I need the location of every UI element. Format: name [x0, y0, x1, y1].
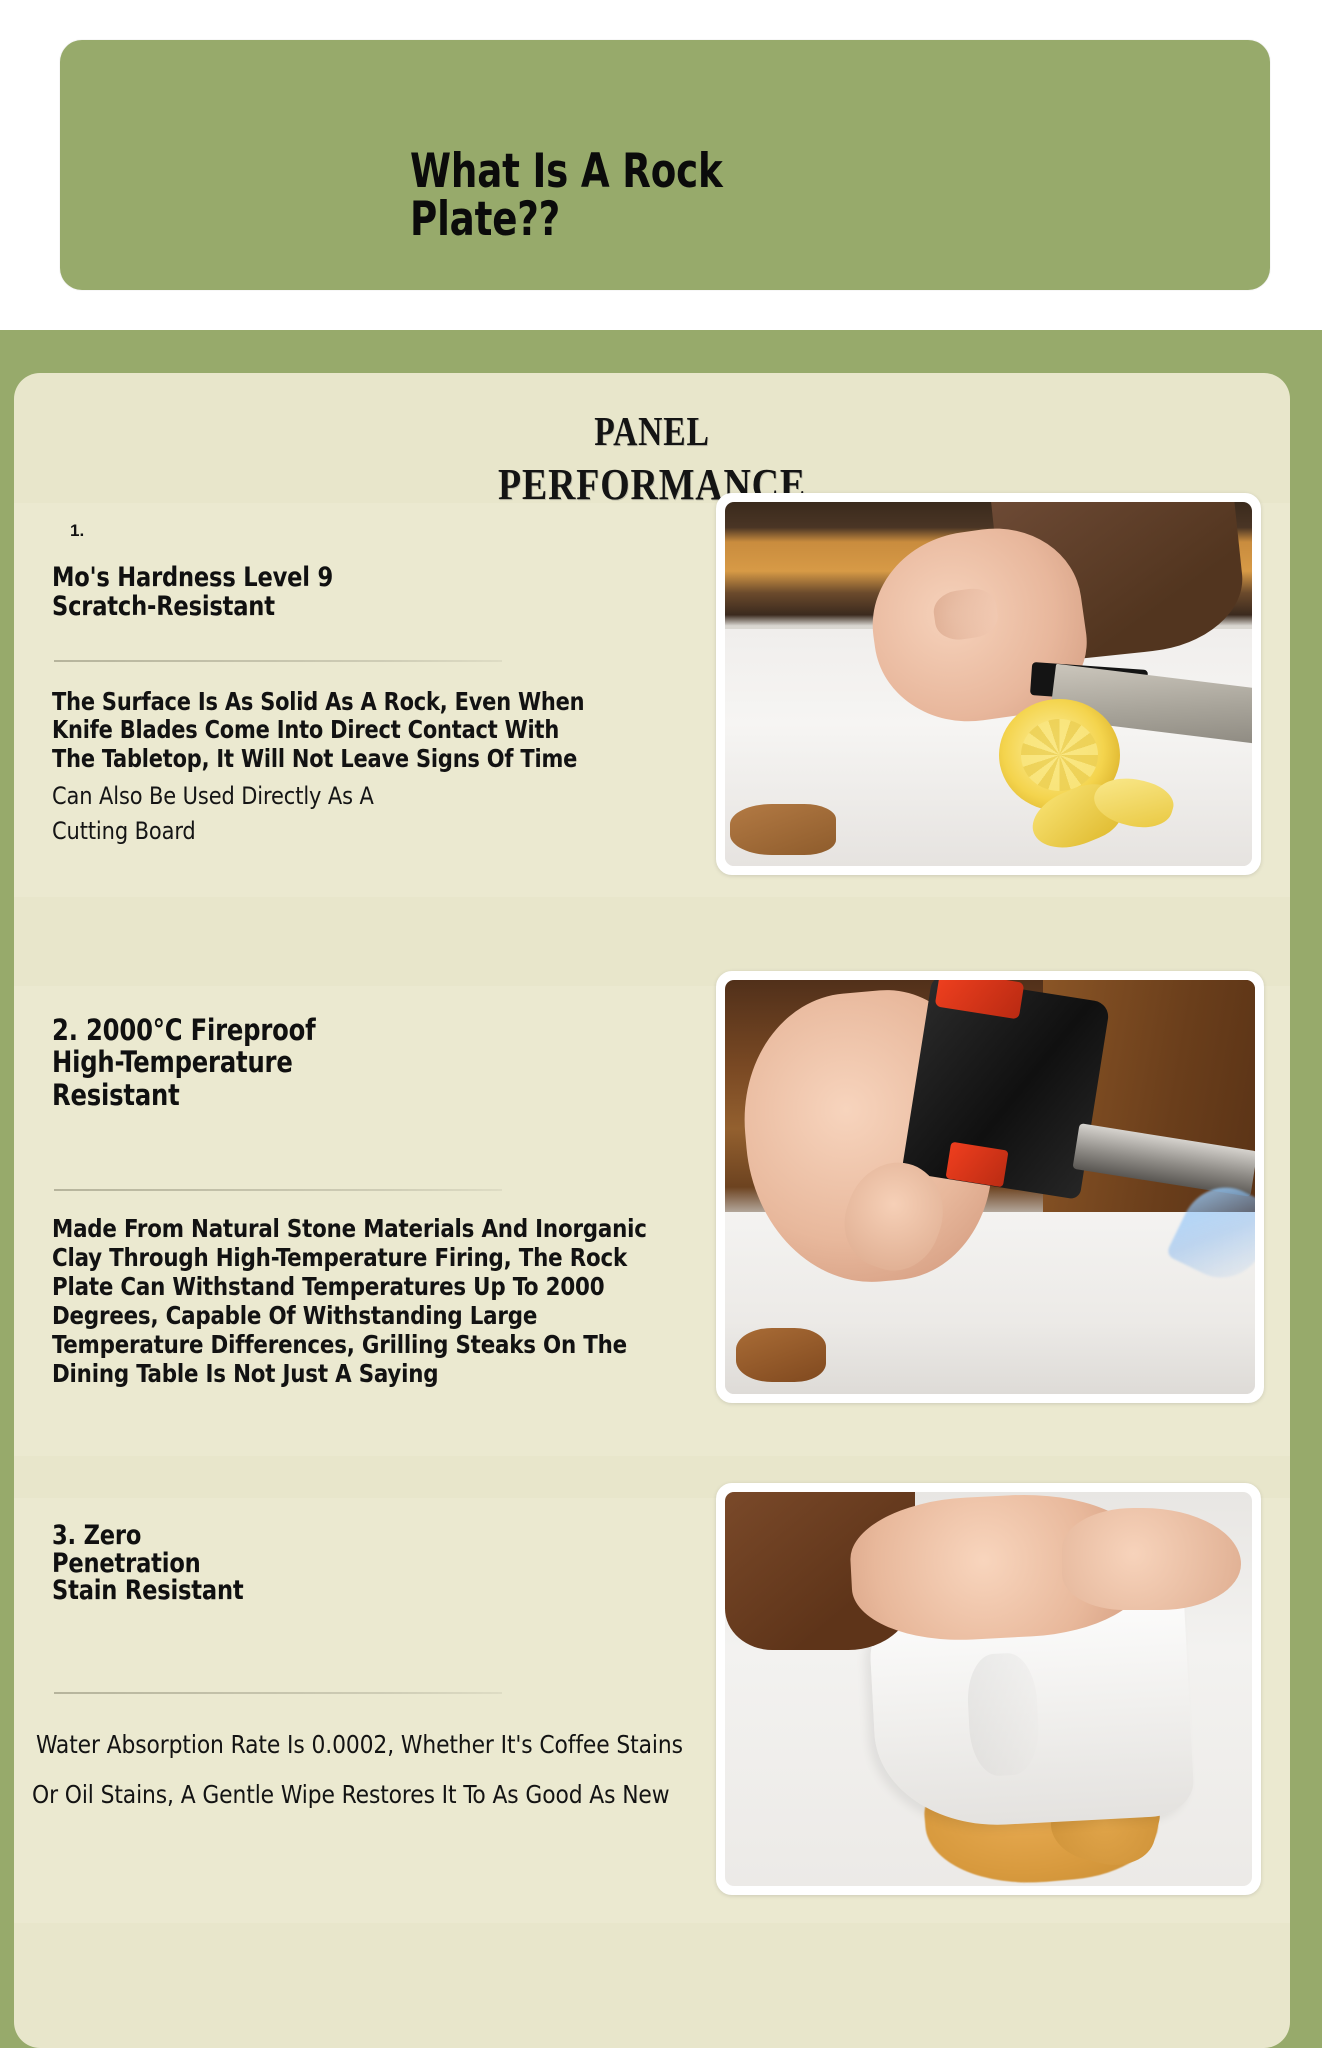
page-title: What Is A Rock Plate??: [410, 148, 1026, 244]
panel-heading-line-1: PANEL: [129, 409, 1175, 455]
feature-1-body: The Surface Is As Solid As A Rock, Even …: [52, 688, 584, 773]
feature-2-body: Made From Natural Stone Materials And In…: [52, 1214, 647, 1388]
food-item-shape: [730, 804, 835, 855]
feature-3-heading: 3. Zero Penetration Stain Resistant: [52, 1522, 244, 1605]
knuckles-shading: [931, 585, 1000, 643]
feature-2-divider: [54, 1189, 502, 1191]
feature-1-divider: [54, 660, 502, 662]
feature-1-number: 1.: [70, 521, 84, 541]
food-item-shape: [736, 1328, 826, 1382]
feature-1-heading: Mo's Hardness Level 9 Scratch-Resistant: [52, 563, 333, 621]
cloth-fold-shading: [965, 1652, 1041, 1778]
feature-2-photo: [716, 971, 1264, 1403]
knife-cutting-lemon-image: [725, 502, 1252, 866]
feature-3-text-column: 3. Zero Penetration Stain Resistant: [38, 1498, 758, 1923]
hero-zone: What Is A Rock Plate??: [0, 0, 1322, 330]
feature-3-body-line-1: Water Absorption Rate Is 0.0002, Whether…: [36, 1730, 683, 1759]
feature-2-text-column: 2. 2000°C Fireproof High-Temperature Res…: [38, 986, 758, 1456]
feature-3-divider: [54, 1692, 502, 1694]
hero-banner: What Is A Rock Plate??: [60, 40, 1270, 290]
feature-1-photo: [716, 493, 1261, 875]
feature-2-heading: 2. 2000°C Fireproof High-Temperature Res…: [52, 1014, 315, 1111]
wiping-stain-image: [725, 1492, 1252, 1886]
feature-1-subtext: Can Also Be Used Directly As A Cutting B…: [52, 779, 374, 849]
feature-section-3: 3. Zero Penetration Stain Resistant Wate…: [14, 1498, 1290, 1923]
butane-torch-image: [725, 980, 1255, 1394]
feature-3-body-line-2: Or Oil Stains, A Gentle Wipe Restores It…: [32, 1780, 670, 1809]
content-card: PANEL PERFORMANCE Bright texture, gray t…: [14, 373, 1290, 2048]
feature-section-2: 2. 2000°C Fireproof High-Temperature Res…: [14, 986, 1290, 1456]
feature-section-1: 1. Mo's Hardness Level 9 Scratch-Resista…: [14, 503, 1290, 897]
feature-3-photo: [716, 1483, 1261, 1895]
feature-1-text-column: 1. Mo's Hardness Level 9 Scratch-Resista…: [38, 503, 758, 897]
product-detail-page: What Is A Rock Plate?? PANEL PERFORMANCE…: [0, 0, 1322, 2048]
